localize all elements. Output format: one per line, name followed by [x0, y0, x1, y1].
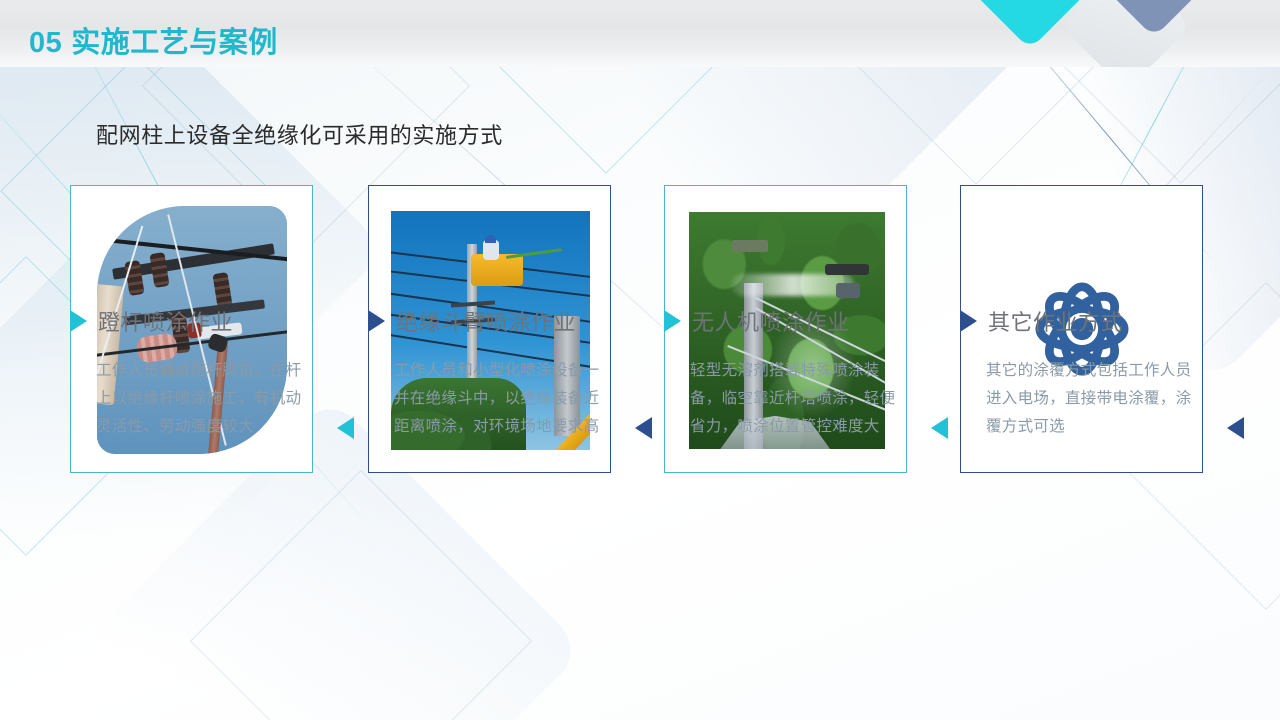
- caption-3-header: 无人机喷涂作业: [664, 305, 934, 337]
- slide-header: 05实施工艺与案例: [0, 0, 1280, 67]
- caption-1: 蹬杆喷涂作业 工作人员佩戴蹬杆脚扣，在杆上以绝缘杆喷涂施工，有机动灵活性、劳动强…: [70, 305, 340, 441]
- caption-4-body: 其它的涂覆方式包括工作人员进入电场，直接带电涂覆，涂覆方式可选: [986, 357, 1204, 441]
- caption-3: 无人机喷涂作业 轻型无溶剂搭载特殊喷涂装备，临空靠近杆塔喷涂，轻便省力，喷涂位置…: [664, 305, 934, 441]
- caption-2-body: 工作人员和小型化喷涂设备一并在绝缘斗中，以绝缘装备近距离喷涂，对环境场地要求高: [394, 357, 612, 441]
- triangle-right-icon: [664, 310, 681, 332]
- caption-4: 其它作业方式 其它的涂覆方式包括工作人员进入电场，直接带电涂覆，涂覆方式可选: [960, 305, 1230, 441]
- caption-4-header: 其它作业方式: [960, 305, 1230, 337]
- triangle-left-icon: [635, 417, 652, 439]
- caption-1-body: 工作人员佩戴蹬杆脚扣，在杆上以绝缘杆喷涂施工，有机动灵活性、劳动强度较大: [96, 357, 314, 441]
- triangle-left-icon: [931, 417, 948, 439]
- section-title: 实施工艺与案例: [71, 27, 278, 59]
- caption-2-header: 绝缘斗臂喷涂作业: [368, 305, 638, 337]
- slide-subtitle: 配网柱上设备全绝缘化可采用的实施方式: [96, 118, 503, 150]
- section-number: 05: [29, 27, 62, 59]
- caption-1-header: 蹬杆喷涂作业: [70, 305, 340, 337]
- triangle-left-icon: [337, 417, 354, 439]
- triangle-right-icon: [960, 310, 977, 332]
- triangle-left-icon: [1227, 417, 1244, 439]
- triangle-right-icon: [70, 310, 87, 332]
- caption-3-body: 轻型无溶剂搭载特殊喷涂装备，临空靠近杆塔喷涂，轻便省力，喷涂位置管控难度大: [690, 357, 908, 441]
- caption-2-title: 绝缘斗臂喷涂作业: [396, 305, 576, 337]
- page-title: 05实施工艺与案例: [29, 19, 278, 61]
- slide-canvas: 05实施工艺与案例 配网柱上设备全绝缘化可采用的实施方式: [0, 0, 1280, 720]
- caption-2: 绝缘斗臂喷涂作业 工作人员和小型化喷涂设备一并在绝缘斗中，以绝缘装备近距离喷涂，…: [368, 305, 638, 441]
- caption-3-title: 无人机喷涂作业: [692, 305, 850, 337]
- caption-4-title: 其它作业方式: [988, 305, 1123, 337]
- caption-1-title: 蹬杆喷涂作业: [98, 305, 233, 337]
- triangle-right-icon: [368, 310, 385, 332]
